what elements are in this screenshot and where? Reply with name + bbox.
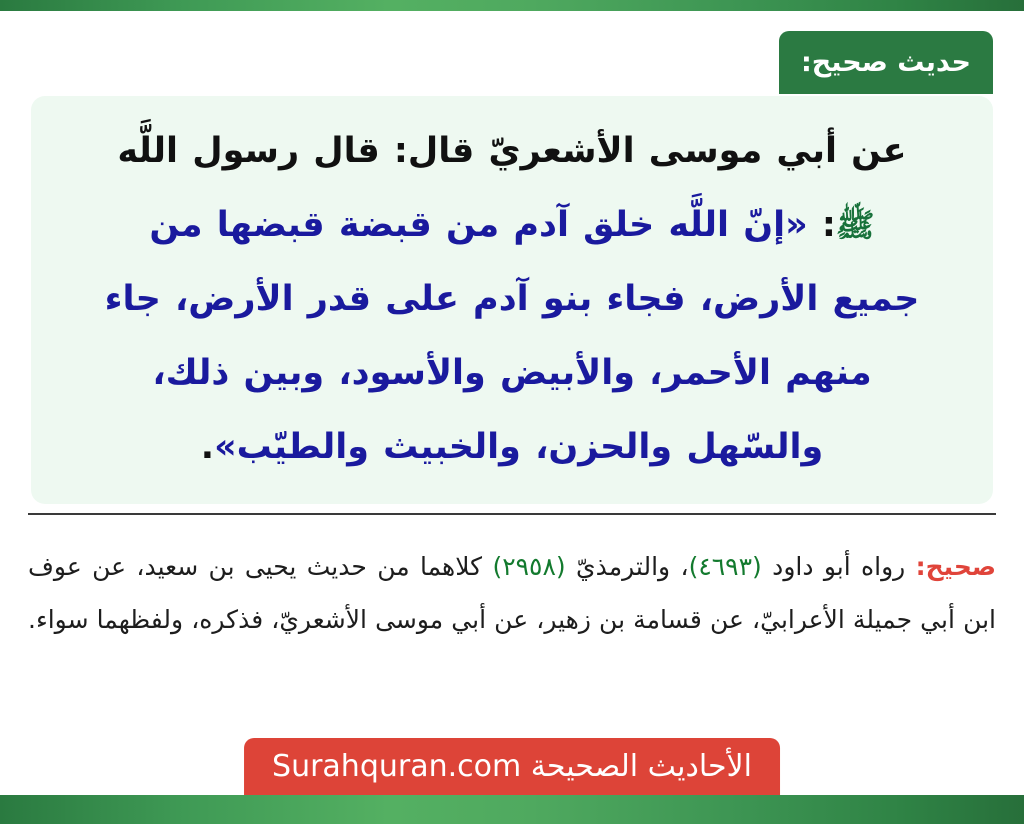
hadith-segment-quoted: والسّهل والحزن، والخبيث والطيّب» — [214, 427, 823, 467]
hadith-panel: عن أبي موسى الأشعريّ قال: قال رسول اللَّ… — [31, 96, 993, 504]
hadith-line: منهم الأحمر، والأبيض والأسود، وبين ذلك، — [57, 336, 967, 410]
hadith-segment-plain: . — [201, 427, 214, 467]
section-divider — [28, 513, 996, 515]
attribution-reference-number: (٤٦٩٣) — [689, 552, 762, 581]
brand-banner[interactable]: الأحاديث الصحيحة Surahquran.com — [244, 738, 780, 795]
hadith-grade-badge: حديث صحيح: — [779, 31, 993, 94]
header-badge-row: حديث صحيح: — [0, 31, 1024, 97]
attribution-text: رواه أبو داود — [762, 552, 916, 581]
hadith-line: ﷺ: «إنّ اللَّه خلق آدم من قبضة قبضها من — [57, 188, 967, 262]
hadith-card-page: { "theme": { "green_dark": "#2b7a42", "g… — [0, 0, 1024, 824]
brand-arabic-label: الأحاديث الصحيحة — [531, 749, 752, 784]
attribution-grade-label: صحيح: — [916, 552, 996, 581]
hadith-segment-plain: عن أبي موسى الأشعريّ قال: قال رسول اللَّ… — [117, 131, 906, 171]
hadith-segment-quoted: «إنّ اللَّه خلق آدم من قبضة قبضها من — [149, 205, 821, 245]
attribution-text: ، والترمذيّ — [566, 552, 689, 581]
attribution-block: صحيح: رواه أبو داود (٤٦٩٣)، والترمذيّ (٢… — [28, 540, 996, 646]
hadith-segment-quoted: جميع الأرض، فجاء بنو آدم على قدر الأرض، … — [105, 279, 920, 319]
hadith-segment-plain: : — [822, 205, 836, 245]
attribution-reference-number: (٢٩٥٨) — [492, 552, 565, 581]
hadith-line: والسّهل والحزن، والخبيث والطيّب». — [57, 410, 967, 484]
hadith-line: عن أبي موسى الأشعريّ قال: قال رسول اللَّ… — [57, 114, 967, 188]
hadith-text: عن أبي موسى الأشعريّ قال: قال رسول اللَّ… — [57, 114, 967, 484]
hadith-line: جميع الأرض، فجاء بنو آدم على قدر الأرض، … — [57, 262, 967, 336]
top-gradient-strip — [0, 0, 1024, 11]
hadith-segment-quoted: منهم الأحمر، والأبيض والأسود، وبين ذلك، — [152, 353, 871, 393]
brand-site-label: Surahquran.com — [272, 749, 521, 784]
hadith-segment-sallam: ﷺ — [836, 206, 875, 244]
bottom-gradient-strip — [0, 795, 1024, 824]
